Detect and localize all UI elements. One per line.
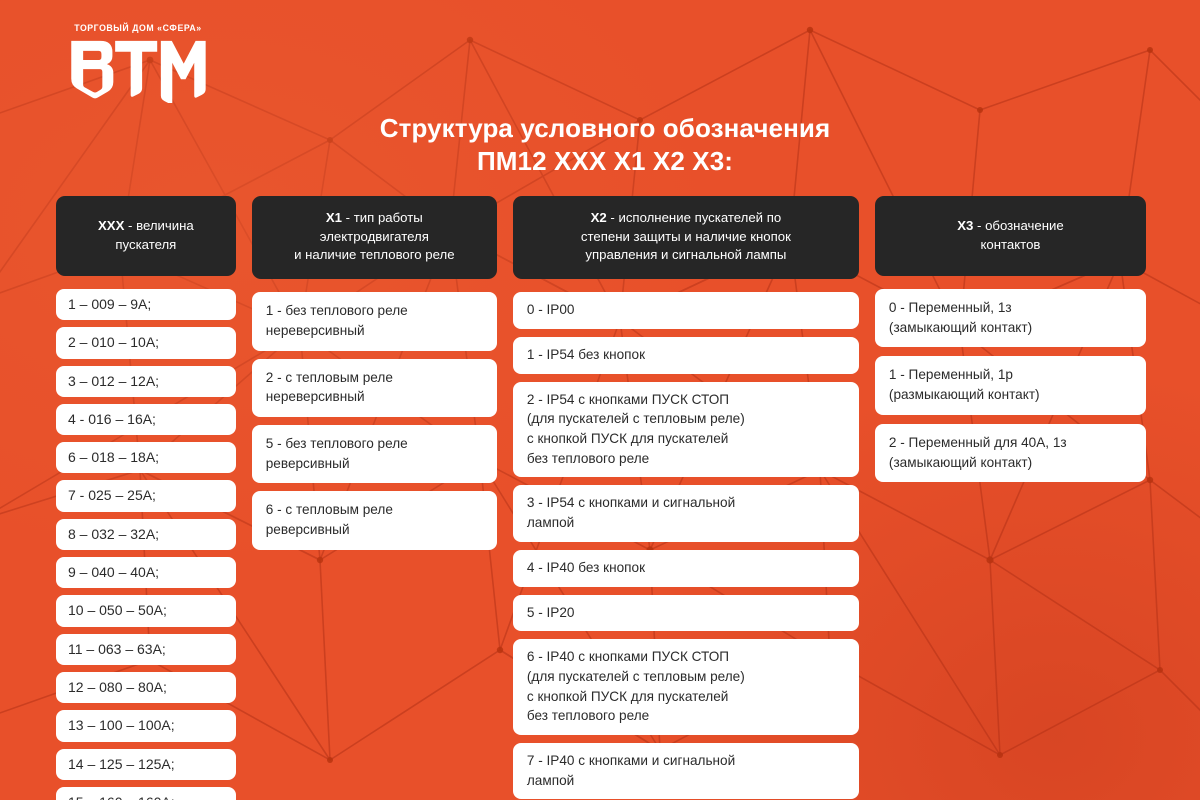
list-item-line: (для пускателей с тепловым реле) — [527, 667, 845, 687]
page-title: Структура условного обозначения ПМ12 XXX… — [260, 112, 950, 177]
list-item-line: (замыкающий контакт) — [889, 453, 1132, 473]
column-header-x3: X3 - обозначение контактов — [875, 196, 1146, 276]
list-item[interactable]: 1 - IP54 без кнопок — [513, 337, 859, 374]
list-item-line: 5 - без теплового реле — [266, 434, 483, 454]
list-item-line: с кнопкой ПУСК для пускателей — [527, 687, 845, 707]
list-item-line: 0 - Переменный, 1з — [889, 298, 1132, 318]
list-item-line: 1 – 009 – 9А; — [68, 294, 224, 314]
list-item[interactable]: 1 - Переменный, 1р (размыкающий контакт) — [875, 356, 1146, 414]
column-x2: X2 - исполнение пускателей по степени за… — [513, 196, 859, 800]
list-item-line: 10 – 050 – 50А; — [68, 600, 224, 620]
vtm-wordmark-icon — [68, 39, 208, 103]
list-item[interactable]: 2 - IP54 с кнопками ПУСК СТОП (для пуска… — [513, 382, 859, 478]
column-x3: X3 - обозначение контактов 0 - Переменны… — [875, 196, 1146, 491]
list-item[interactable]: 9 – 040 – 40А; — [56, 557, 236, 588]
page-title-line-2: ПМ12 XXX X1 X2 X3: — [260, 145, 950, 178]
list-item-line: лампой — [527, 513, 845, 533]
list-item-line: 3 - IP54 с кнопками и сигнальной — [527, 493, 845, 513]
column-items-x3: 0 - Переменный, 1з (замыкающий контакт) … — [875, 289, 1146, 491]
list-item-line: лампой — [527, 771, 845, 791]
column-header-xxx: XXX - величина пускателя — [56, 196, 236, 276]
list-item-line: 4 - IP40 без кнопок — [527, 558, 845, 578]
column-header-x2-rest: - исполнение пускателей по — [607, 210, 781, 225]
column-header-xxx-line-2: пускателя — [66, 236, 226, 255]
column-items-xxx: 1 – 009 – 9А; 2 – 010 – 10А; 3 – 012 – 1… — [56, 289, 236, 800]
list-item[interactable]: 15 – 160 – 160А; — [56, 787, 236, 800]
list-item-line: 14 – 125 – 125А; — [68, 754, 224, 774]
list-item-line: 2 – 010 – 10А; — [68, 332, 224, 352]
legend-columns: XXX - величина пускателя 1 – 009 – 9А; 2… — [56, 196, 1146, 800]
list-item-line: 5 - IP20 — [527, 603, 845, 623]
list-item-line: с кнопкой ПУСК для пускателей — [527, 429, 845, 449]
list-item[interactable]: 4 - 016 – 16А; — [56, 404, 236, 435]
column-header-x1-line-3: и наличие теплового реле — [262, 246, 487, 265]
list-item-line: 7 - 025 – 25А; — [68, 485, 224, 505]
list-item-line: 9 – 040 – 40А; — [68, 562, 224, 582]
column-header-x3-line-2: контактов — [885, 236, 1136, 255]
list-item-line: 2 - Переменный для 40А, 1з — [889, 433, 1132, 453]
list-item[interactable]: 5 - без теплового реле реверсивный — [252, 425, 497, 483]
list-item[interactable]: 3 - IP54 с кнопками и сигнальной лампой — [513, 485, 859, 541]
list-item-line: 6 – 018 – 18А; — [68, 447, 224, 467]
list-item[interactable]: 6 - IP40 с кнопками ПУСК СТОП (для пуска… — [513, 639, 859, 735]
column-header-x1-rest: - тип работы — [342, 210, 423, 225]
list-item-line: 13 – 100 – 100А; — [68, 715, 224, 735]
list-item[interactable]: 5 - IP20 — [513, 595, 859, 632]
column-x1: X1 - тип работы электродвигателя и налич… — [252, 196, 497, 558]
list-item-line: 15 – 160 – 160А; — [68, 792, 224, 800]
list-item[interactable]: 0 - Переменный, 1з (замыкающий контакт) — [875, 289, 1146, 347]
column-header-x2-line-3: управления и сигнальной лампы — [523, 246, 849, 265]
list-item-line: нереверсивный — [266, 321, 483, 341]
list-item[interactable]: 1 – 009 – 9А; — [56, 289, 236, 320]
list-item-line: 1 - без теплового реле — [266, 301, 483, 321]
list-item[interactable]: 6 - с тепловым реле реверсивный — [252, 491, 497, 549]
list-item[interactable]: 12 – 080 – 80А; — [56, 672, 236, 703]
list-item-line: без теплового реле — [527, 706, 845, 726]
list-item[interactable]: 6 – 018 – 18А; — [56, 442, 236, 473]
column-xxx: XXX - величина пускателя 1 – 009 – 9А; 2… — [56, 196, 236, 800]
list-item-line: 0 - IP00 — [527, 300, 845, 320]
list-item[interactable]: 10 – 050 – 50А; — [56, 595, 236, 626]
column-header-x2: X2 - исполнение пускателей по степени за… — [513, 196, 859, 279]
list-item-line: без теплового реле — [527, 449, 845, 469]
list-item-line: 7 - IP40 с кнопками и сигнальной — [527, 751, 845, 771]
list-item-line: (размыкающий контакт) — [889, 385, 1132, 405]
list-item-line: (для пускателей с тепловым реле) — [527, 409, 845, 429]
column-header-x2-line-2: степени защиты и наличие кнопок — [523, 228, 849, 247]
list-item[interactable]: 8 – 032 – 32А; — [56, 519, 236, 550]
list-item[interactable]: 7 - 025 – 25А; — [56, 480, 236, 511]
column-header-x3-rest: - обозначение — [973, 218, 1063, 233]
list-item[interactable]: 11 – 063 – 63А; — [56, 634, 236, 665]
list-item-line: 8 – 032 – 32А; — [68, 524, 224, 544]
list-item[interactable]: 13 – 100 – 100А; — [56, 710, 236, 741]
list-item[interactable]: 7 - IP40 с кнопками и сигнальной лампой — [513, 743, 859, 799]
list-item-line: 2 - IP54 с кнопками ПУСК СТОП — [527, 390, 845, 410]
column-items-x2: 0 - IP00 1 - IP54 без кнопок 2 - IP54 с … — [513, 292, 859, 800]
list-item-line: (замыкающий контакт) — [889, 318, 1132, 338]
column-header-x1-line-2: электродвигателя — [262, 228, 487, 247]
list-item-line: реверсивный — [266, 520, 483, 540]
list-item-line: нереверсивный — [266, 387, 483, 407]
brand-tagline: ТОРГОВЫЙ ДОМ «СФЕРА» — [74, 24, 203, 34]
list-item[interactable]: 2 - с тепловым реле нереверсивный — [252, 359, 497, 417]
list-item-line: 1 - IP54 без кнопок — [527, 345, 845, 365]
list-item-line: 6 - с тепловым реле — [266, 500, 483, 520]
list-item-line: 6 - IP40 с кнопками ПУСК СТОП — [527, 647, 845, 667]
list-item[interactable]: 1 - без теплового реле нереверсивный — [252, 292, 497, 350]
list-item[interactable]: 3 – 012 – 12А; — [56, 366, 236, 397]
column-code-x3: X3 — [957, 218, 973, 233]
list-item-line: реверсивный — [266, 454, 483, 474]
column-items-x1: 1 - без теплового реле нереверсивный 2 -… — [252, 292, 497, 558]
list-item[interactable]: 14 – 125 – 125А; — [56, 749, 236, 780]
list-item[interactable]: 2 – 010 – 10А; — [56, 327, 236, 358]
list-item-line: 2 - с тепловым реле — [266, 368, 483, 388]
column-code-xxx: XXX — [98, 218, 124, 233]
column-code-x1: X1 — [326, 210, 342, 225]
page-title-line-1: Структура условного обозначения — [260, 112, 950, 145]
list-item-line: 3 – 012 – 12А; — [68, 371, 224, 391]
column-header-xxx-rest: - величина — [124, 218, 193, 233]
list-item-line: 1 - Переменный, 1р — [889, 365, 1132, 385]
brand-logo: ТОРГОВЫЙ ДОМ «СФЕРА» — [68, 24, 208, 103]
column-code-x2: X2 — [591, 210, 607, 225]
list-item[interactable]: 2 - Переменный для 40А, 1з (замыкающий к… — [875, 424, 1146, 482]
list-item[interactable]: 0 - IP00 — [513, 292, 859, 329]
list-item[interactable]: 4 - IP40 без кнопок — [513, 550, 859, 587]
list-item-line: 4 - 016 – 16А; — [68, 409, 224, 429]
list-item-line: 11 – 063 – 63А; — [68, 639, 224, 659]
column-header-x1: X1 - тип работы электродвигателя и налич… — [252, 196, 497, 279]
infographic-page: ТОРГОВЫЙ ДОМ «СФЕРА» Структура условного… — [0, 0, 1200, 800]
list-item-line: 12 – 080 – 80А; — [68, 677, 224, 697]
